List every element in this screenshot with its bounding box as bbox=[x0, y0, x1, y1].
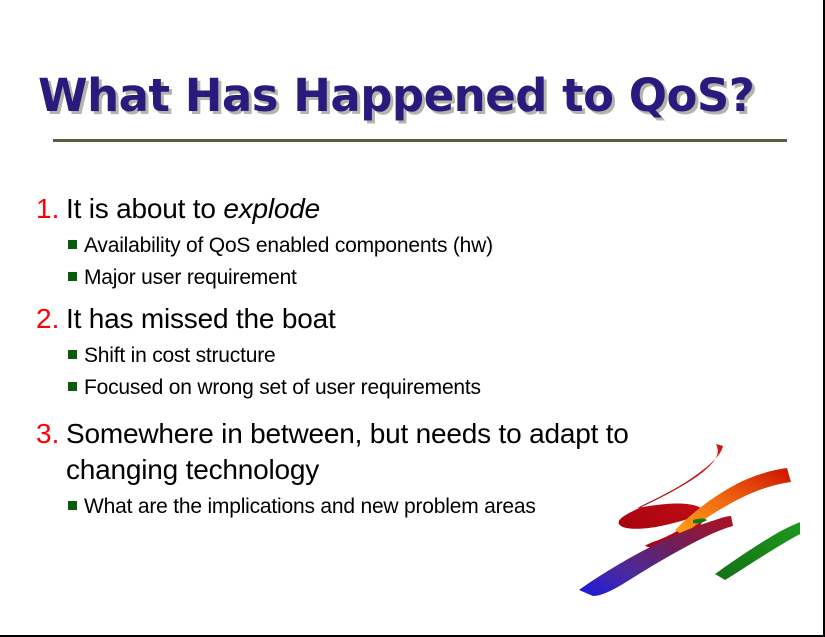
item-text-emphasis: explode bbox=[223, 193, 320, 224]
numbered-item-2: 2. It has missed the boat bbox=[36, 301, 736, 337]
sub-bullet-label: Focused on wrong set of user requirement… bbox=[84, 375, 481, 401]
sub-bullet-list: What are the implications and new proble… bbox=[36, 494, 736, 520]
brush-stroke-purple bbox=[579, 516, 733, 596]
item-number: 2. bbox=[36, 301, 66, 337]
sub-bullet-label: Availability of QoS enabled components (… bbox=[84, 233, 493, 259]
item-text: It is about to explode bbox=[66, 191, 320, 227]
sub-bullet-label: Major user requirement bbox=[84, 265, 297, 291]
sub-bullet-list: Availability of QoS enabled components (… bbox=[36, 233, 736, 291]
brush-stroke-green bbox=[715, 519, 800, 580]
page-title: What Has Happened to QoS? bbox=[38, 69, 754, 122]
item-number: 3. bbox=[36, 416, 66, 452]
numbered-item-3: 3. Somewhere in between, but needs to ad… bbox=[36, 416, 736, 488]
page-title-text: What Has Happened to QoS? bbox=[38, 69, 754, 122]
item-text: Somewhere in between, but needs to adapt… bbox=[66, 416, 691, 488]
list-item: Availability of QoS enabled components (… bbox=[68, 233, 736, 259]
list-item: What are the implications and new proble… bbox=[68, 494, 736, 520]
square-bullet-icon bbox=[68, 350, 77, 359]
item-number: 1. bbox=[36, 191, 66, 227]
content-list: 1. It is about to explode Availability o… bbox=[36, 191, 736, 526]
list-item: Shift in cost structure bbox=[68, 343, 736, 369]
sub-bullet-label: What are the implications and new proble… bbox=[84, 494, 536, 520]
list-item: 1. It is about to explode Availability o… bbox=[36, 191, 736, 291]
item-text: It has missed the boat bbox=[66, 301, 336, 337]
sub-bullet-list: Shift in cost structure Focused on wrong… bbox=[36, 343, 736, 401]
title-divider bbox=[53, 139, 787, 142]
spacer bbox=[36, 407, 736, 416]
item-text-plain: It is about to bbox=[66, 193, 223, 224]
list-item: Major user requirement bbox=[68, 265, 736, 291]
list-item: 3. Somewhere in between, but needs to ad… bbox=[36, 416, 736, 520]
square-bullet-icon bbox=[68, 501, 77, 510]
square-bullet-icon bbox=[68, 272, 77, 281]
square-bullet-icon bbox=[68, 240, 77, 249]
slide: What Has Happened to QoS? 1. It is about… bbox=[0, 0, 825, 637]
square-bullet-icon bbox=[68, 382, 77, 391]
sub-bullet-label: Shift in cost structure bbox=[84, 343, 275, 369]
numbered-item-1: 1. It is about to explode bbox=[36, 191, 736, 227]
list-item: 2. It has missed the boat Shift in cost … bbox=[36, 301, 736, 401]
list-item: Focused on wrong set of user requirement… bbox=[68, 375, 736, 401]
